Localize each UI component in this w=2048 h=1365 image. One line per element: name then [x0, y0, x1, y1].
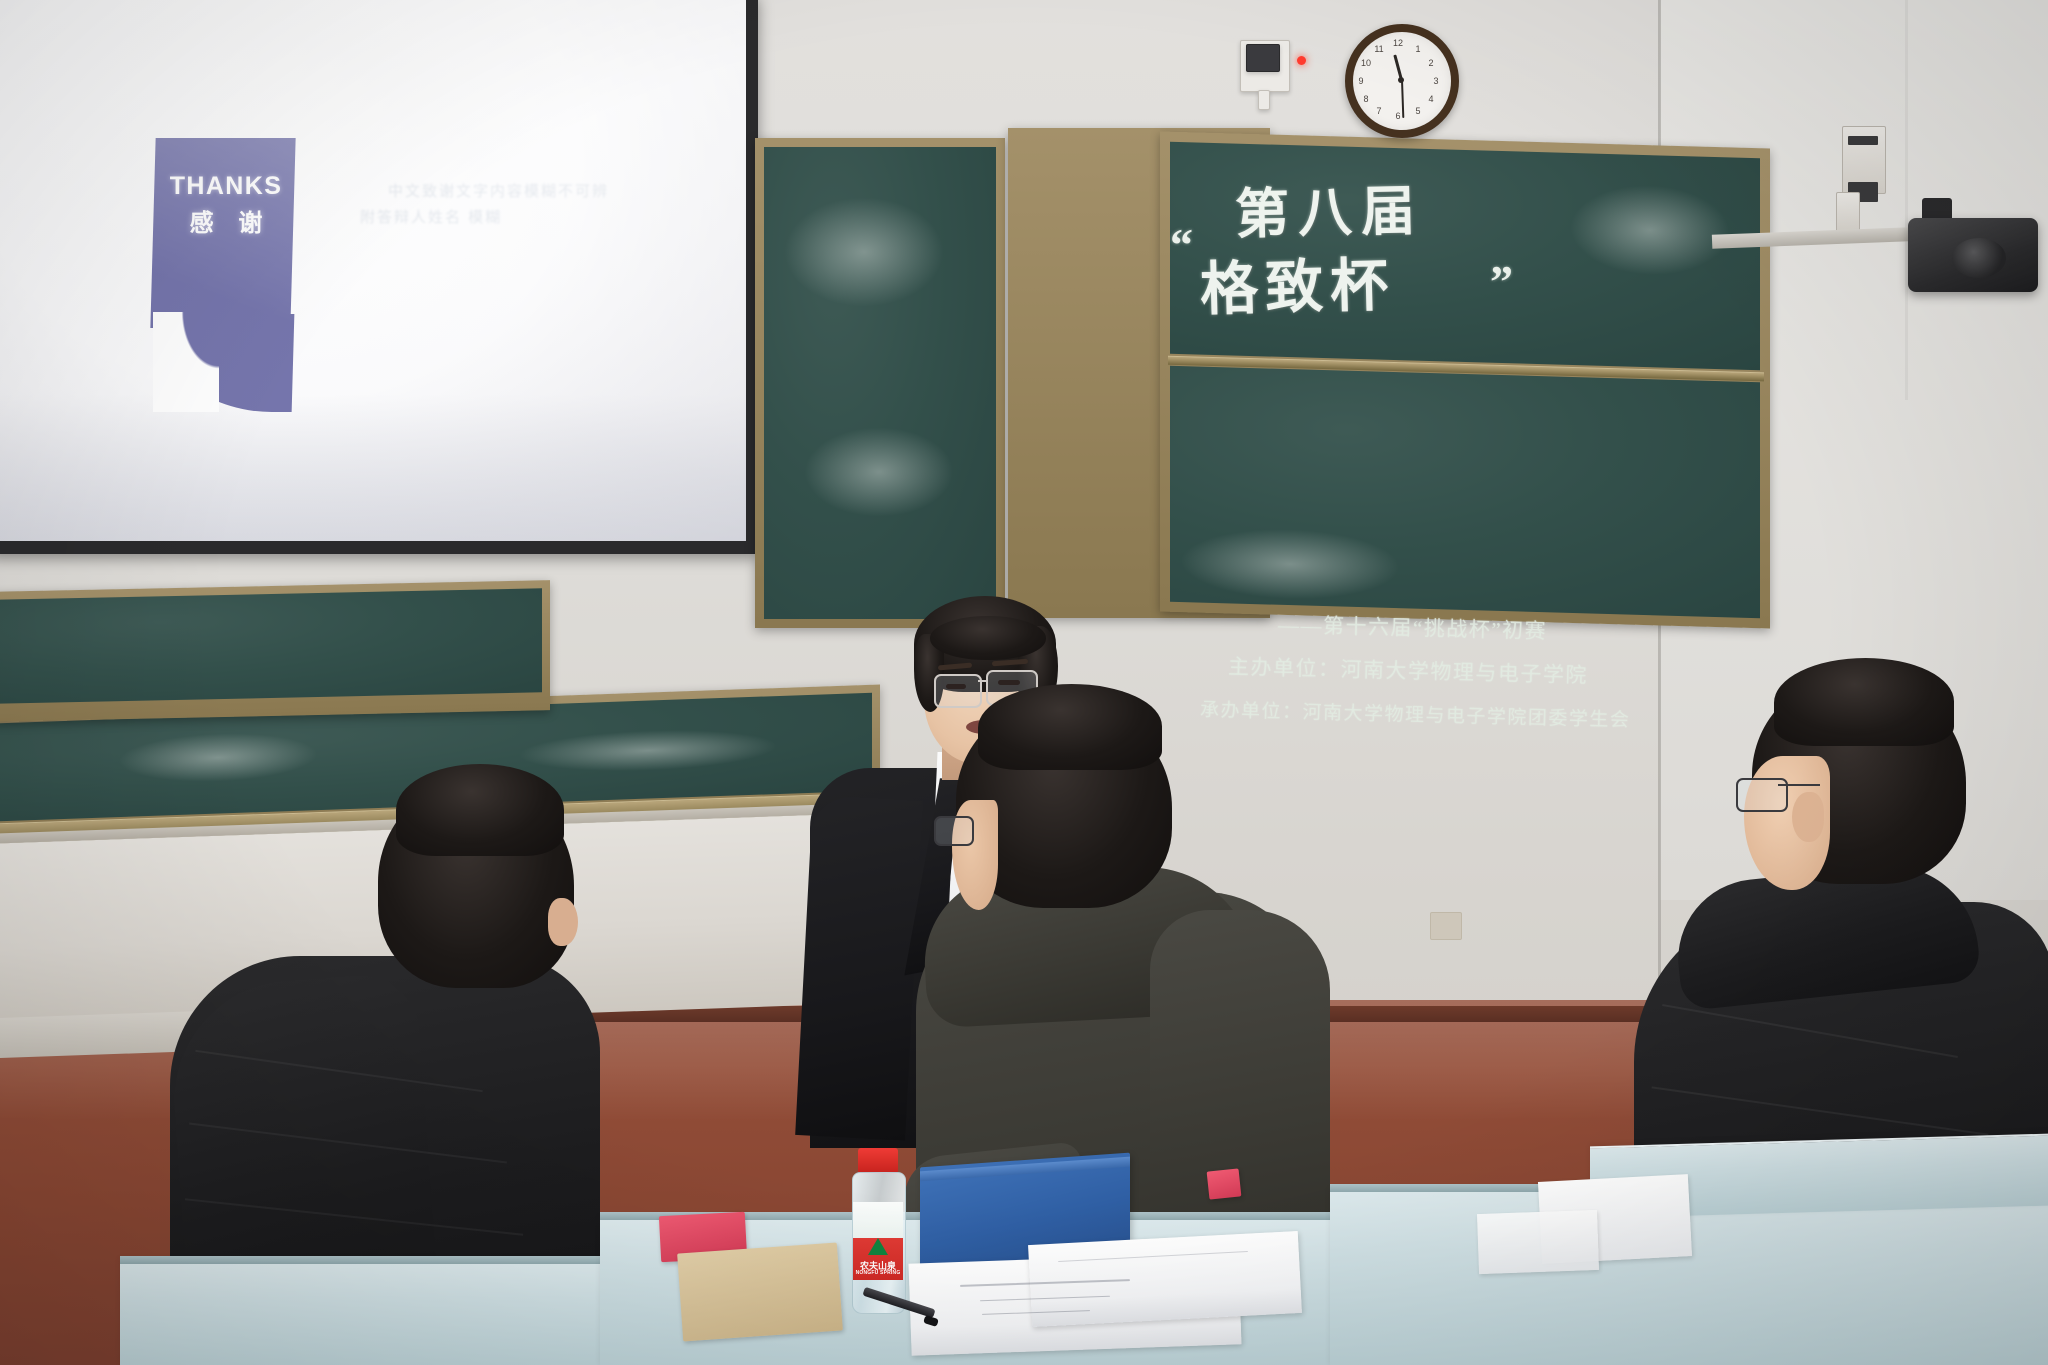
chalk-title-line-2: 格致杯: [1199, 238, 1396, 327]
classroom-scene: THANKS 感 谢 中文致谢文字内容模糊不可辨 附答辩人姓名 模糊 “: [0, 0, 2048, 1365]
blackboard-surface: [0, 588, 542, 703]
clock-numeral: 1: [1412, 44, 1424, 54]
wall-clock: 12 1 2 3 4 5 6 7 8 9 10 11: [1345, 24, 1459, 138]
center-judge-red-marker: [1207, 1168, 1242, 1199]
clock-numeral: 8: [1360, 94, 1372, 104]
judge-center-hair-crown: [978, 684, 1162, 770]
clock-center-pin: [1398, 77, 1404, 83]
judge-center-glasses: [934, 816, 974, 846]
right-judge-document-2: [1477, 1210, 1599, 1274]
blackboard-surface-lower: [1170, 366, 1760, 618]
blackboard-panel-left: [755, 138, 1005, 628]
chalk-dust: [804, 427, 954, 517]
wall-outlet: [1430, 912, 1462, 940]
clock-numeral: 12: [1392, 38, 1404, 48]
slide-quote-mark-notch: [153, 312, 219, 412]
tan-folder: [677, 1243, 843, 1342]
clock-numeral: 2: [1425, 58, 1437, 68]
motion-sensor-lens: [1246, 44, 1280, 72]
chalk-quote-close: ”: [1490, 255, 1513, 308]
chalk-title-line-1: 第八届: [1234, 166, 1425, 249]
electrical-box-lower: [1836, 192, 1860, 232]
clock-numeral: 7: [1373, 106, 1385, 116]
paper-stack-top-sheet: [1028, 1231, 1302, 1327]
blackboard-surface: [764, 147, 996, 619]
screen-shadow: [0, 394, 746, 541]
wall-seam: [1905, 0, 1908, 400]
slide-title-cn: 感 谢: [166, 203, 286, 238]
nongfu-spring-logo-icon: [868, 1238, 888, 1255]
clock-numeral: 10: [1360, 58, 1372, 68]
projection-screen-frame: THANKS 感 谢 中文致谢文字内容模糊不可辨 附答辩人姓名 模糊: [0, 0, 758, 554]
wall-speaker: [1908, 218, 2038, 292]
slide-faint-text-2: 附答辩人姓名 模糊: [360, 206, 502, 227]
presenter-hair-fringe: [930, 616, 1046, 660]
judge-right-ear: [1792, 792, 1824, 842]
sensor-bracket: [1258, 90, 1270, 110]
judge-left-hair-crown: [396, 764, 564, 856]
slide-title-en: THANKS: [166, 172, 286, 201]
judge-right-glasses-temple: [1778, 784, 1820, 786]
clock-numeral: 11: [1373, 44, 1385, 54]
chalk-dust: [1180, 526, 1400, 602]
clock-numeral: 3: [1430, 76, 1442, 86]
chalk-dust: [518, 726, 778, 775]
judge-right-hair-crown: [1774, 658, 1954, 746]
clock-numeral: 9: [1355, 76, 1367, 86]
judge-left-ear: [548, 898, 578, 946]
chalk-quote-open: “: [1170, 218, 1193, 271]
clock-numeral: 5: [1412, 106, 1424, 116]
slide-faint-text-1: 中文致谢文字内容模糊不可辨: [388, 180, 609, 201]
chalk-dust: [784, 197, 944, 307]
electrical-box-switch: [1848, 136, 1878, 145]
water-bottle-cap: [858, 1148, 898, 1174]
sensor-led-indicator: [1297, 56, 1306, 65]
speaker-grille: [1952, 238, 2006, 278]
clock-numeral: 4: [1425, 94, 1437, 104]
chalk-dust: [1570, 183, 1730, 277]
blackboard-left-upper: [0, 580, 550, 722]
water-bottle-brand-en: NONGFU SPRING: [853, 1270, 903, 1276]
